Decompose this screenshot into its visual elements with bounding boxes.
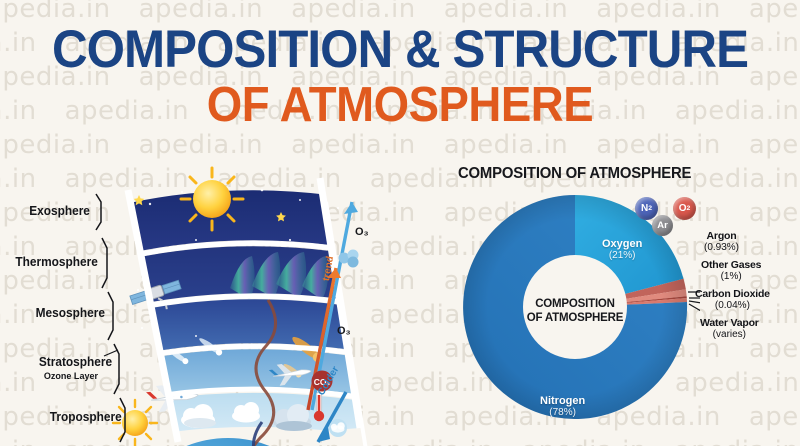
callout-argon: Argon (0.93%) — [704, 230, 739, 253]
molecule-icon-ar: Ar — [652, 215, 673, 236]
annotation-ozone-lower: O₃ — [337, 325, 351, 337]
water-vapor-icon — [329, 419, 347, 437]
sun-icon-upper — [181, 168, 243, 230]
watermark-row: apedia.inapedia.inapedia.inapedia.inaped… — [0, 130, 800, 160]
layer-label-exosphere: Exosphere — [29, 204, 90, 218]
page-title: COMPOSITION & STRUCTURE OF ATMOSPHERE — [0, 22, 800, 131]
slice-label-nitrogen: Nitrogen (78%) — [540, 395, 585, 418]
title-line-1: COMPOSITION & STRUCTURE — [28, 22, 772, 77]
layer-label-stratosphere: Stratosphere — [39, 355, 112, 369]
title-line-2: OF ATMOSPHERE — [28, 79, 772, 131]
chart-title: COMPOSITION OF ATMOSPHERE — [458, 165, 691, 183]
callout-water-vapor: Water Vapor (varies) — [700, 317, 759, 340]
molecule-icon-n2: N2 — [635, 197, 658, 220]
layer-label-thermosphere: Thermosphere — [15, 255, 98, 269]
composition-chart-panel: COMPOSITION OF ATMOSPHERE — [440, 160, 800, 446]
donut-center-label: COMPOSITION OF ATMOSPHERE — [520, 298, 630, 325]
annotation-ozone-upper: O₃ — [355, 226, 369, 238]
callout-other-gases: Other Gases (1%) — [701, 259, 761, 282]
layer-label-mesosphere: Mesosphere — [36, 306, 105, 320]
atmosphere-layers-graphic: CO₂ — [0, 160, 450, 446]
slice-label-oxygen: Oxygen (21%) — [602, 238, 642, 261]
layer-sub-label-ozone: Ozone Layer — [44, 371, 98, 382]
molecule-icon-o2: O2 — [673, 197, 696, 220]
atmosphere-structure-diagram: CO₂ Exosphere Thermosphere Mesosphere St… — [0, 160, 450, 446]
layer-label-troposphere: Troposphere — [50, 410, 122, 424]
callout-carbon-dioxide: Carbon Dioxide (0.04%) — [695, 288, 770, 311]
